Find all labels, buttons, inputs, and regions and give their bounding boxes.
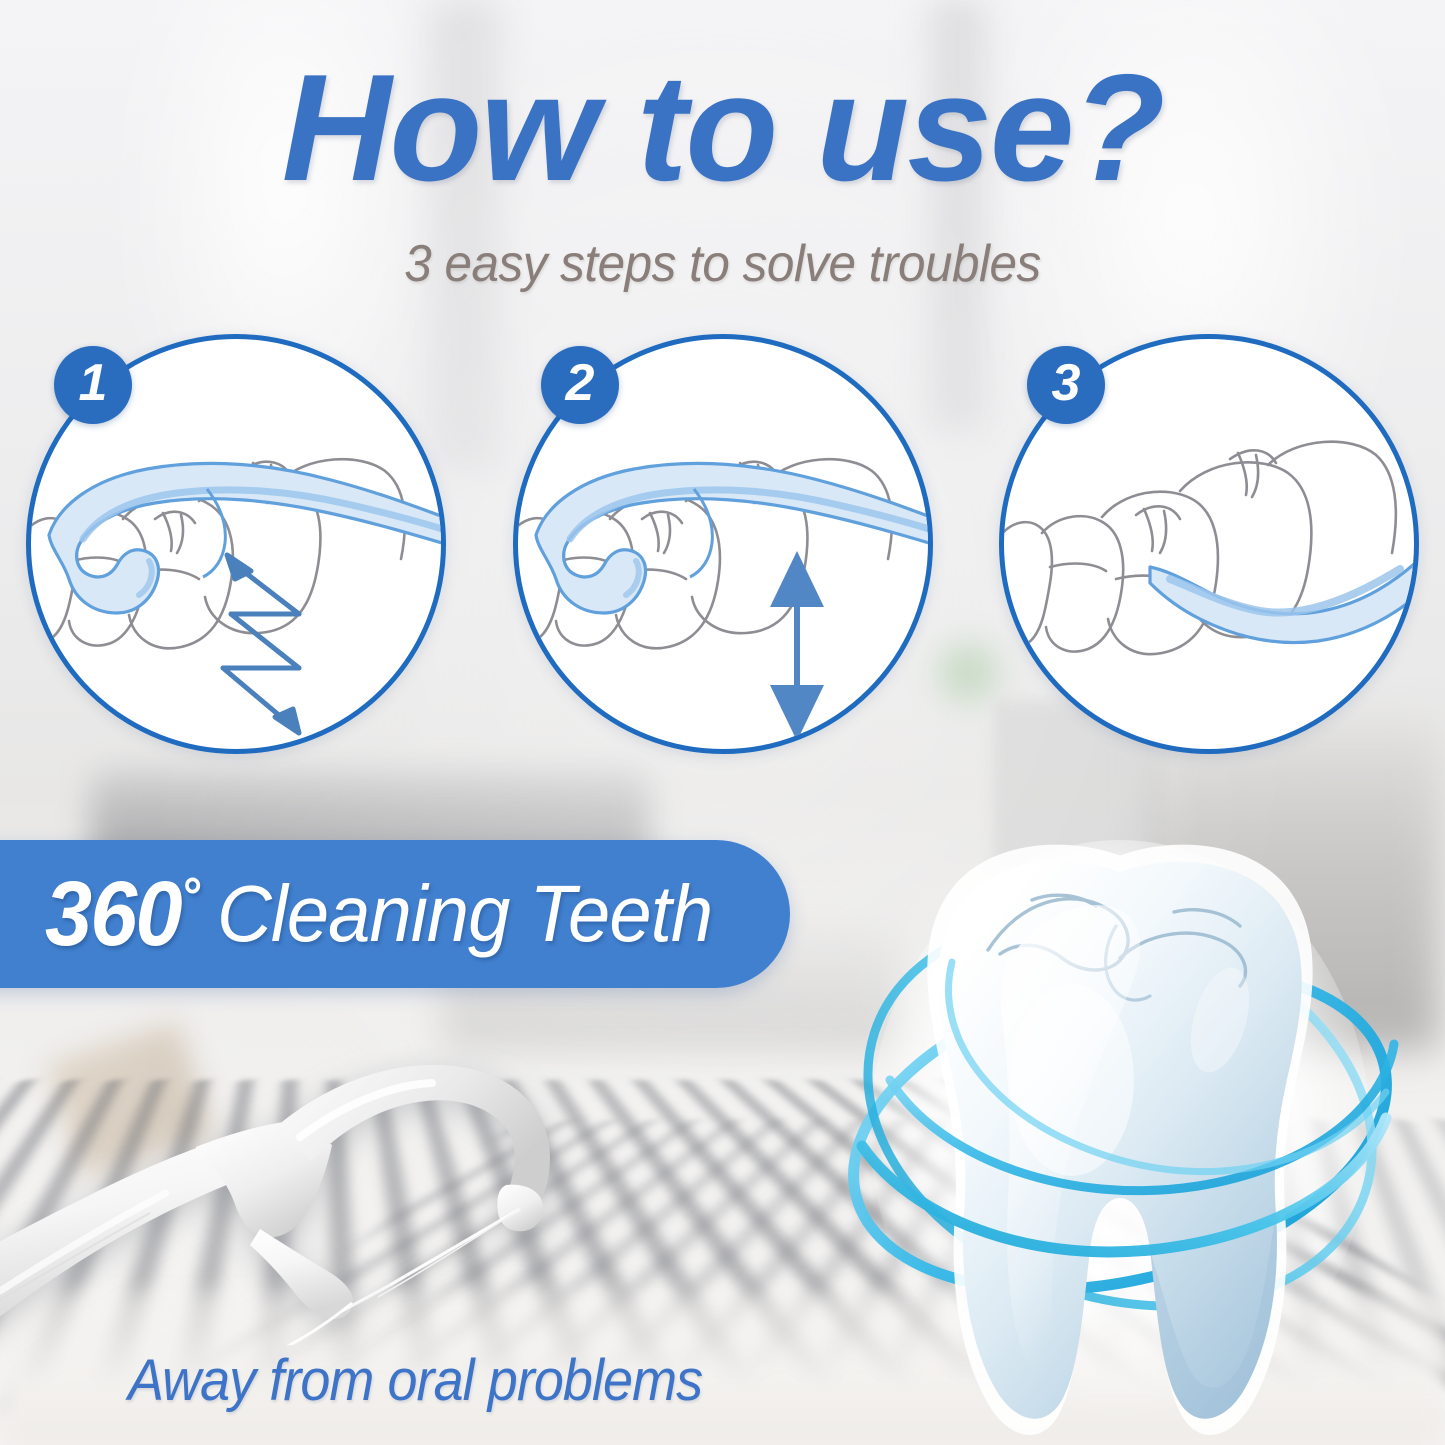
page-title: How to use? bbox=[0, 52, 1445, 204]
page-subtitle: 3 easy steps to solve troubles bbox=[36, 238, 1409, 290]
step-3: 3 bbox=[999, 334, 1419, 754]
banner-degrees: 360° bbox=[45, 868, 198, 960]
step-3-badge: 3 bbox=[1027, 346, 1105, 424]
step-3-number: 3 bbox=[1052, 357, 1081, 409]
footer-tagline: Away from oral problems bbox=[128, 1352, 702, 1410]
step-1-number: 1 bbox=[79, 357, 108, 409]
vertical-double-arrow-icon bbox=[770, 551, 824, 741]
step-1-badge: 1 bbox=[54, 346, 132, 424]
glossy-3d-molar-tooth-with-orbit-rings bbox=[820, 830, 1440, 1445]
banner-label: Cleaning Teeth bbox=[217, 874, 712, 954]
step-1: 1 bbox=[26, 334, 446, 754]
step-2-number: 2 bbox=[566, 357, 595, 409]
steps-row: 1 bbox=[26, 334, 1419, 754]
banner-degrees-value: 360 bbox=[45, 863, 181, 965]
step-2-badge: 2 bbox=[541, 346, 619, 424]
zigzag-double-arrow-icon bbox=[223, 555, 299, 733]
cleaning-banner: 360° Cleaning Teeth bbox=[0, 840, 790, 988]
product-infographic-poster: How to use? 3 easy steps to solve troubl… bbox=[0, 0, 1445, 1445]
dental-floss-pick-photo bbox=[0, 985, 620, 1345]
step-2: 2 bbox=[513, 334, 933, 754]
degree-symbol-icon: ° bbox=[181, 867, 198, 925]
